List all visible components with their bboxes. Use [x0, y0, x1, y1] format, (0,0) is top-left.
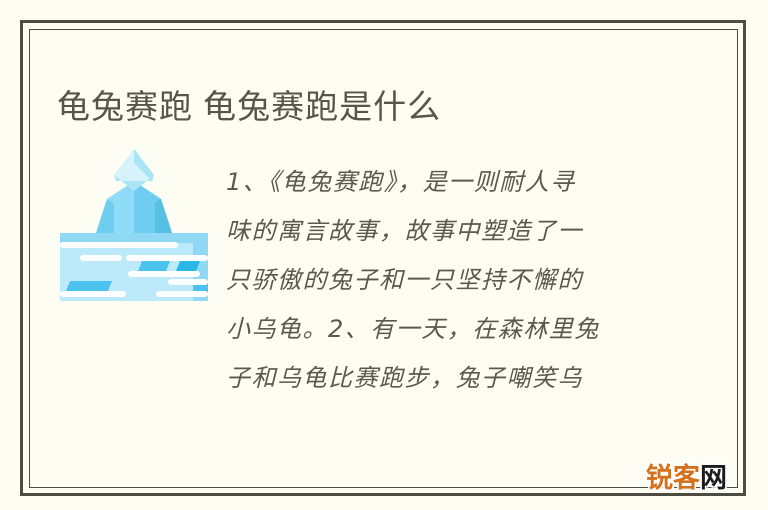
body-line: 味的寓言故事，故事中塑造了一	[226, 207, 686, 256]
body-line: 只骄傲的兔子和一只坚持不懈的	[226, 256, 686, 305]
page-title: 龟兔赛跑 龟兔赛跑是什么	[57, 84, 441, 130]
iceberg-foam-3	[126, 255, 208, 261]
iceberg-foam-2	[80, 255, 122, 261]
iceberg-svg	[60, 143, 208, 303]
iceberg-foam-6	[60, 291, 126, 297]
iceberg-illustration	[60, 143, 208, 303]
site-watermark: 锐客网	[646, 464, 727, 494]
iceberg-foam-5	[168, 279, 208, 285]
page-root: 龟兔赛跑 龟兔赛跑是什么	[0, 0, 768, 510]
body-line: 子和乌龟比赛跑步，兔子嘲笑乌	[226, 354, 686, 403]
watermark-text-primary: 锐客	[646, 463, 700, 494]
iceberg-foam-7	[156, 291, 208, 297]
iceberg-ice-chunk-1	[138, 261, 170, 271]
body-line: 小乌龟。2、有一天，在森林里兔	[226, 305, 686, 354]
iceberg-foam-4	[128, 271, 200, 277]
iceberg-body-shadow	[155, 199, 172, 233]
watermark-text-secondary: 网	[700, 463, 727, 494]
iceberg-body-left-shade	[96, 199, 114, 233]
iceberg-ice-chunk-3	[66, 281, 112, 291]
iceberg-water-top-band	[60, 233, 208, 243]
iceberg-foam-1	[60, 242, 178, 248]
article-body: 1、《龟兔赛跑》，是一则耐人寻 味的寓言故事，故事中塑造了一 只骄傲的兔子和一只…	[226, 158, 686, 403]
body-line: 1、《龟兔赛跑》，是一则耐人寻	[226, 158, 686, 207]
iceberg-ice-chunk-2	[176, 261, 200, 271]
